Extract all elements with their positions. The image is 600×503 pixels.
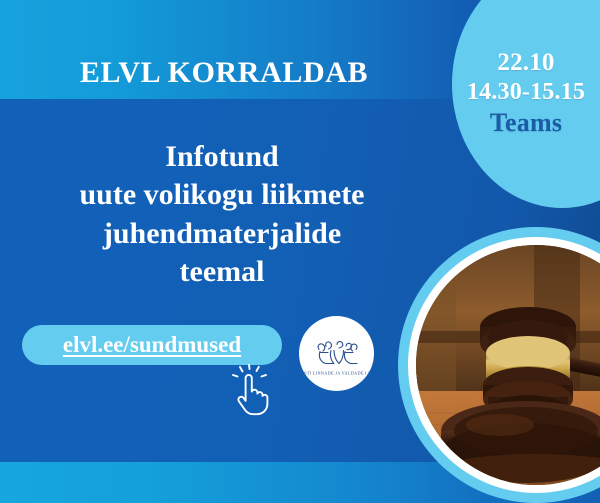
pointing-hand-click-icon [228, 364, 282, 416]
event-platform: Teams [452, 108, 600, 139]
elvl-monogram-icon [314, 339, 360, 369]
url-button[interactable]: elvl.ee/sundmused [22, 325, 282, 365]
body-line-2: uute volikogu liikmete [6, 176, 438, 214]
elvl-logo: EESTI LINNADE JA VALDADE LIIT [299, 316, 374, 391]
body-line-3: juhendmaterjalide [6, 215, 438, 253]
poster-canvas: 22.10 14.30-15.15 Teams ELVL KORRALDAB I… [0, 0, 600, 503]
poster-headline: ELVL KORRALDAB [0, 56, 448, 90]
event-date: 22.10 [452, 48, 600, 78]
url-button-label: elvl.ee/sundmused [63, 332, 241, 358]
event-time: 14.30-15.15 [452, 78, 600, 106]
elvl-logo-caption: EESTI LINNADE JA VALDADE LIIT [299, 370, 374, 375]
poster-body-text: Infotund uute volikogu liikmete juhendma… [6, 138, 438, 292]
date-badge: 22.10 14.30-15.15 Teams [452, 48, 600, 138]
body-line-4: teemal [6, 253, 438, 291]
body-line-1: Infotund [6, 138, 438, 176]
